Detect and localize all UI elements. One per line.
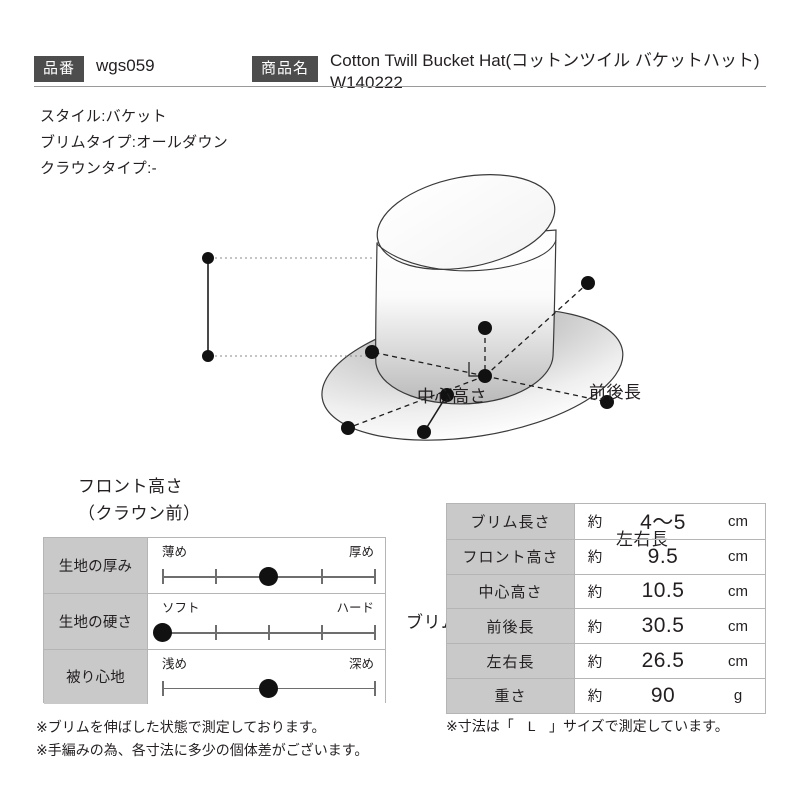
measurement-approx: 約 [575,504,615,539]
rating-row-fit-depth: 被り心地 浅め 深め [44,649,385,704]
measurement-unit: cm [711,575,765,609]
table-row: フロント高さ 約 9.5 cm [447,539,765,574]
measurement-value: 4〜5 [615,504,711,539]
product-header: 品番 wgs059 商品名 Cotton Twill Bucket Hat(コッ… [34,50,766,90]
measurement-label: 重さ [447,679,575,713]
measurement-approx: 約 [575,540,615,574]
dot-front-back [581,276,595,290]
rating-label-fit-depth: 被り心地 [44,650,148,704]
measurement-approx: 約 [575,644,615,678]
axis-tick [162,569,164,584]
note-handmade-variance: ※手編みの為、各寸法に多少の個体差がございます。 [36,739,368,762]
axis-tick [374,681,376,696]
dot-center-origin [478,369,492,383]
measurement-unit: cm [711,504,765,539]
rating-scale-fit-depth: 浅め 深め [148,650,385,704]
measurement-label: フロント高さ [447,540,575,574]
axis-tick [374,625,376,640]
sku-tag-label: 品番 [34,56,84,82]
attribute-brim-type: ブリムタイプ:オールダウン [40,130,228,156]
rating-row-thickness: 生地の厚み 薄め 厚め [44,538,385,593]
attribute-style: スタイル:バケット [40,104,228,130]
axis-tick [215,625,217,640]
measurement-label: 左右長 [447,644,575,678]
rating-scale-hardness: ソフト ハード [148,594,385,648]
rating-label-hardness: 生地の硬さ [44,594,148,648]
measurement-label: 中心高さ [447,575,575,609]
rating-max-label-thickness: 厚め [349,541,374,560]
measurement-unit: cm [711,644,765,678]
product-name-line-2: W140222 [330,72,759,94]
dot-crown-side [365,345,379,359]
rating-min-label-fit-depth: 浅め [162,653,187,672]
label-front-height-line-2: （クラウン前） [78,500,201,527]
measurement-value: 90 [615,679,711,713]
measurement-unit: cm [711,609,765,643]
rating-marker-fit-depth [259,679,278,698]
rating-min-label-hardness: ソフト [162,597,200,616]
rating-row-hardness: 生地の硬さ ソフト ハード [44,593,385,648]
dot-center-height [478,321,492,335]
rating-axis-thickness [162,568,374,586]
rating-max-label-fit-depth: 深め [349,653,374,672]
rating-max-label-hardness: ハード [336,597,374,616]
table-row: 左右長 約 26.5 cm [447,643,765,678]
measurement-unit: g [711,679,765,713]
dot-brim-edge [341,421,355,435]
axis-tick [321,569,323,584]
hat-measurement-diagram: 中心高さ 前後長 左右長 ブリム（つば）長さ フロント高さ （クラウン前） [0,160,800,480]
fabric-rating-table: 生地の厚み 薄め 厚め 生地の硬さ ソフト ハード [43,537,386,703]
measurement-notes-left: ※ブリムを伸ばした状態で測定しております。 ※手編みの為、各寸法に多少の個体差が… [36,716,368,762]
axis-tick [321,625,323,640]
note-brim-stretched: ※ブリムを伸ばした状態で測定しております。 [36,716,368,739]
product-header-row: 品番 wgs059 商品名 Cotton Twill Bucket Hat(コッ… [34,50,766,90]
rating-marker-thickness [259,567,278,586]
front-height-bracket [202,252,373,362]
header-divider [34,86,766,87]
axis-tick [268,625,270,640]
measurement-value: 10.5 [615,575,711,609]
axis-tick [374,569,376,584]
label-front-back-length: 前後長 [589,378,642,403]
measurement-table: ブリム長さ 約 4〜5 cm フロント高さ 約 9.5 cm 中心高さ 約 10… [446,503,766,714]
rating-label-thickness: 生地の厚み [44,538,148,593]
axis-tick [215,569,217,584]
table-row: 中心高さ 約 10.5 cm [447,574,765,609]
rating-axis-hardness [162,624,374,642]
table-row: ブリム長さ 約 4〜5 cm [447,504,765,539]
measurement-value: 9.5 [615,540,711,574]
measurement-label: ブリム長さ [447,504,575,539]
measurement-value: 26.5 [615,644,711,678]
axis-tick [162,681,164,696]
measurement-approx: 約 [575,609,615,643]
rating-marker-hardness [153,623,172,642]
measurement-value: 30.5 [615,609,711,643]
rating-scale-thickness: 薄め 厚め [148,538,385,593]
label-front-height-line-1: フロント高さ [78,473,201,500]
sku-value: wgs059 [84,50,252,76]
product-name-tag-label: 商品名 [252,56,318,82]
table-row: 重さ 約 90 g [447,678,765,713]
note-size-reference: ※寸法は「 L 」サイズで測定しています。 [446,716,729,736]
dot-brim-outer [417,425,431,439]
label-front-height: フロント高さ （クラウン前） [78,473,201,527]
rating-axis-fit-depth [162,680,374,698]
measurement-unit: cm [711,540,765,574]
table-row: 前後長 約 30.5 cm [447,608,765,643]
rating-min-label-thickness: 薄め [162,541,187,560]
hat-diagram-svg [0,160,800,480]
measurement-approx: 約 [575,575,615,609]
hat-crown [369,161,563,404]
product-name-line-1: Cotton Twill Bucket Hat(コットンツイル バケットハット) [330,50,759,72]
measurement-label: 前後長 [447,609,575,643]
label-center-height: 中心高さ [417,382,487,407]
measurement-approx: 約 [575,679,615,713]
